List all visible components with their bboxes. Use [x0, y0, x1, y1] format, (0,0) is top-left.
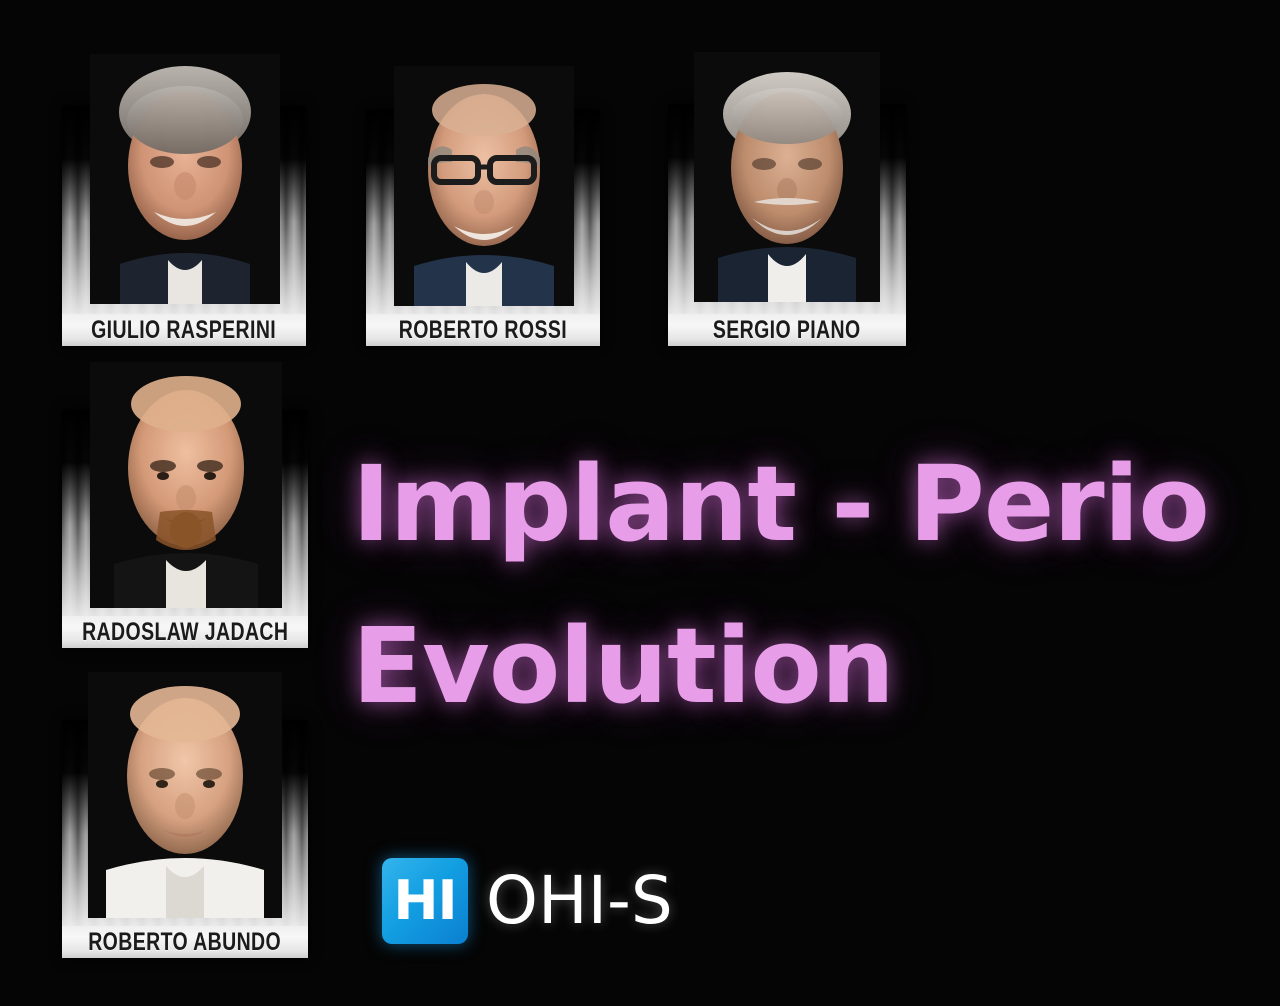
speaker-name: RADOSLAW JADACH [82, 618, 288, 647]
speaker-name-banner: SERGIO PIANO [668, 314, 906, 346]
speaker-photo [88, 672, 282, 918]
headline-line-2: Evolution [352, 617, 1212, 717]
ohis-logo-badge-icon: HI [382, 858, 468, 944]
speaker-card-giulio-rasperini[interactable]: GIULIO RASPERINI [62, 106, 306, 346]
speaker-card-roberto-abundo[interactable]: ROBERTO ABUNDO [62, 720, 308, 958]
speaker-name-banner: ROBERTO ABUNDO [62, 926, 308, 958]
ohis-logo-wordmark: OHI-S [486, 868, 673, 934]
speaker-name: ROBERTO ABUNDO [89, 928, 282, 957]
headline-block: Implant - Perio Evolution [352, 455, 1212, 717]
poster-canvas: GIULIO RASPERINI [0, 0, 1280, 1006]
speaker-name-banner: ROBERTO ROSSI [366, 314, 600, 346]
speaker-photo [90, 54, 280, 304]
ohis-logo-lockup[interactable]: HI OHI-S [382, 858, 673, 944]
speaker-card-roberto-rossi[interactable]: ROBERTO ROSSI [366, 110, 600, 346]
speaker-photo [394, 66, 574, 306]
speaker-name: ROBERTO ROSSI [399, 316, 567, 345]
ohis-logo-badge-text: HI [393, 874, 456, 928]
speaker-name: GIULIO RASPERINI [91, 316, 276, 345]
speaker-card-sergio-piano[interactable]: SERGIO PIANO [668, 104, 906, 346]
speaker-name: SERGIO PIANO [713, 316, 861, 345]
speaker-name-banner: GIULIO RASPERINI [62, 314, 306, 346]
speaker-name-banner: RADOSLAW JADACH [62, 616, 308, 648]
speaker-photo [90, 362, 282, 608]
speaker-card-radoslaw-jadach[interactable]: RADOSLAW JADACH [62, 410, 308, 648]
headline-line-1: Implant - Perio [352, 455, 1212, 555]
speaker-photo [694, 52, 880, 302]
